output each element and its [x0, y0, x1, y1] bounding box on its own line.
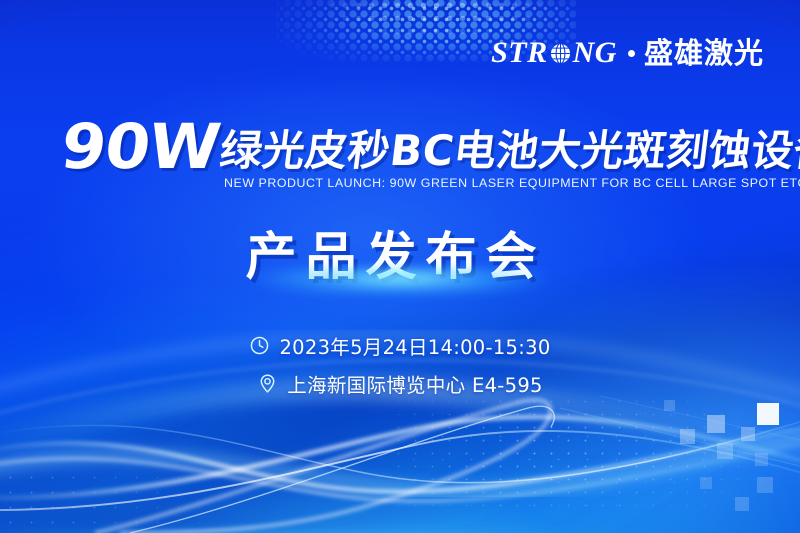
- brand-wordmark-tail: NG: [573, 38, 617, 68]
- decor-square: [735, 497, 749, 511]
- brand-logo: STR NG 盛雄激光: [491, 38, 764, 68]
- event-datetime-text: 2023年5月24日14:00-15:30: [279, 331, 550, 360]
- decor-square: [707, 415, 725, 433]
- brand-separator-dot: [628, 50, 635, 57]
- decor-square: [741, 427, 755, 441]
- headline-glow-accent: [235, 268, 565, 294]
- title-english-subtitle: NEW PRODUCT LAUNCH: 90W GREEN LASER EQUI…: [224, 176, 800, 190]
- event-venue-line: 上海新国际博览中心 E4-595: [0, 369, 800, 398]
- particle-speckle-left: [0, 470, 260, 533]
- decor-square: [680, 429, 695, 444]
- decor-square: [757, 477, 773, 493]
- event-datetime-line: 2023年5月24日14:00-15:30: [0, 331, 800, 360]
- product-title: 90W 绿光皮秒BC电池大光斑刻蚀设备: [58, 118, 758, 175]
- event-poster: STR NG 盛雄激光 90W 绿光皮秒BC电池大光斑刻蚀设备 NEW PROD…: [0, 0, 800, 533]
- clock-icon: [249, 335, 270, 356]
- event-info: 2023年5月24日14:00-15:30 上海新国际博览中心 E4-595: [0, 331, 800, 407]
- location-pin-icon: [257, 373, 278, 394]
- event-venue-text: 上海新国际博览中心 E4-595: [287, 369, 542, 398]
- globe-icon: [549, 42, 572, 65]
- brand-chinese-name: 盛雄激光: [644, 39, 764, 68]
- title-power-value: 90W: [58, 118, 223, 175]
- title-chinese: 绿光皮秒BC电池大光斑刻蚀设备: [217, 130, 800, 175]
- decor-square: [700, 477, 712, 489]
- decor-square: [755, 453, 768, 466]
- decor-square: [717, 443, 733, 459]
- brand-wordmark-head: STR: [491, 38, 548, 68]
- brand-wordmark: STR NG: [491, 38, 617, 68]
